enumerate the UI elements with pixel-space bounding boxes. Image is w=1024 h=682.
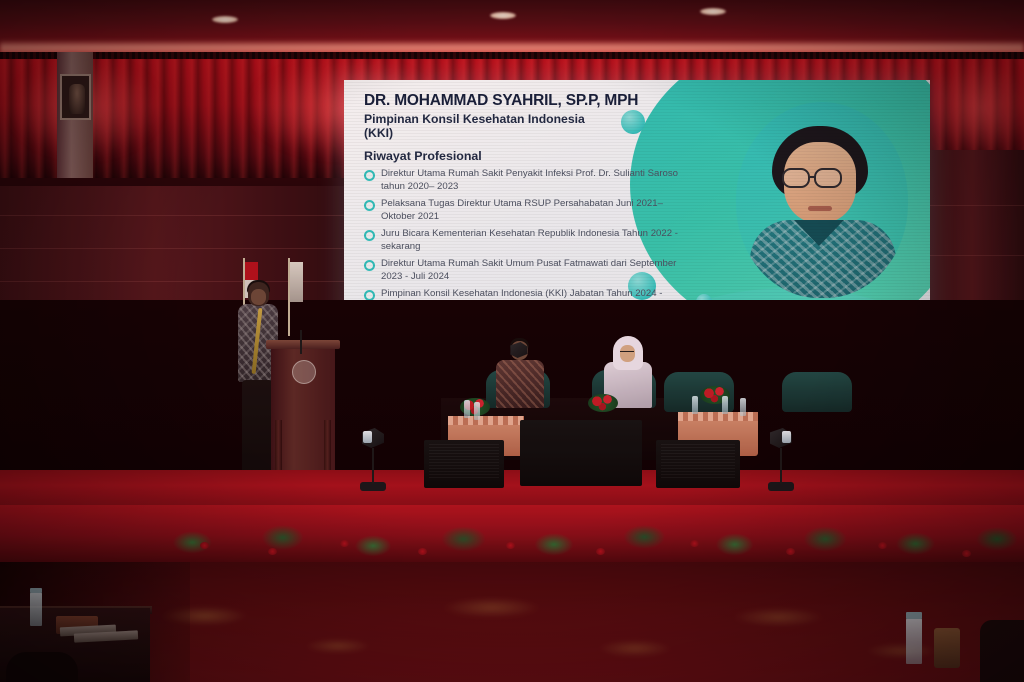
slide-subtitle-line2: (KKI) — [364, 127, 694, 141]
framed-portrait — [60, 74, 91, 120]
foreground-water-bottle — [30, 592, 42, 626]
water-bottle — [722, 396, 728, 414]
slide-section-heading: Riwayat Profesional — [364, 149, 694, 163]
ceiling-downlight — [212, 16, 238, 23]
red-flower — [878, 542, 887, 549]
portrait-glasses-bridge — [810, 176, 816, 178]
monitor-grill — [429, 444, 499, 478]
curtain-highlight — [930, 60, 1024, 156]
check-circle-icon — [364, 260, 375, 271]
par-light-post — [372, 448, 374, 484]
red-flower — [268, 548, 277, 555]
speaker-portrait-photo — [736, 102, 908, 298]
check-circle-icon — [364, 230, 375, 241]
conference-hall-photo: DR. MOHAMMAD SYAHRIL, SP.P, MPH Pimpinan… — [0, 0, 1024, 682]
list-item: Direktur Utama Rumah Sakit Umum Pusat Fa… — [364, 258, 694, 283]
portrait-glasses-left — [782, 168, 810, 188]
water-bottle — [474, 402, 480, 420]
panel-chair-empty — [782, 372, 852, 412]
red-flower — [418, 548, 427, 555]
organization-flag — [288, 258, 302, 336]
wood-panel-seam — [0, 215, 344, 216]
wall-column — [57, 52, 93, 192]
par-light-lens — [782, 431, 791, 443]
list-item-label: Direktur Utama Rumah Sakit Penyakit Infe… — [381, 168, 694, 193]
red-flower — [506, 542, 515, 549]
list-item: Juru Bicara Kementerian Kesehatan Republ… — [364, 228, 694, 253]
portrait-glasses-right — [814, 168, 842, 188]
check-circle-icon — [364, 170, 375, 181]
cloth-frill — [678, 412, 758, 421]
ceiling-downlight — [490, 12, 516, 19]
panelist-right-glasses — [620, 351, 634, 356]
podium-top — [266, 340, 340, 349]
wood-panel-seam — [0, 248, 344, 249]
portrait-figure — [69, 84, 85, 114]
list-item-label: Pelaksana Tugas Direktur Utama RSUP Pers… — [381, 198, 694, 223]
red-flower — [340, 540, 349, 547]
ceiling-downlight — [700, 8, 726, 15]
list-item-label: Juru Bicara Kementerian Kesehatan Republ… — [381, 228, 694, 253]
slide-bullet-list: Direktur Utama Rumah Sakit Penyakit Infe… — [364, 168, 694, 313]
slide-text-block: DR. MOHAMMAD SYAHRIL, SP.P, MPH Pimpinan… — [364, 92, 694, 318]
cloth-frill — [448, 416, 524, 425]
stage-monitor-speaker — [656, 440, 740, 488]
check-circle-icon — [364, 200, 375, 211]
list-item-label: Direktur Utama Rumah Sakit Umum Pusat Fa… — [381, 258, 694, 283]
microphone-stand — [300, 330, 302, 354]
slide-subtitle-line1: Pimpinan Konsil Kesehatan Indonesia — [364, 113, 694, 127]
water-bottle — [692, 396, 698, 414]
foreground-water-bottle — [906, 618, 922, 664]
slide-title: DR. MOHAMMAD SYAHRIL, SP.P, MPH — [364, 92, 694, 110]
curtain-rail — [0, 52, 1024, 59]
foreground-chair-back — [6, 652, 78, 682]
podium-emblem-icon — [292, 360, 316, 384]
wood-panel-seam — [930, 255, 1024, 256]
par-light-lens — [363, 431, 372, 443]
foreground-water-bottle — [934, 628, 960, 668]
water-bottle — [464, 400, 470, 418]
red-flower — [690, 540, 699, 547]
bottle-cap — [30, 588, 42, 593]
monitor-grill — [661, 444, 735, 478]
red-flower — [200, 542, 209, 549]
red-flower — [786, 548, 795, 555]
flag-cloth-red — [245, 262, 258, 280]
red-flower — [962, 550, 971, 557]
speaker-face — [251, 289, 266, 305]
stage-monitor-speaker — [424, 440, 504, 488]
red-flower — [596, 548, 605, 555]
flower-arrangement — [588, 394, 618, 412]
foreground-chair-back — [980, 620, 1024, 682]
list-item: Direktur Utama Rumah Sakit Penyakit Infe… — [364, 168, 694, 193]
bottle-cap — [906, 612, 922, 619]
center-stage-stand — [520, 420, 642, 486]
list-item: Pelaksana Tugas Direktur Utama RSUP Pers… — [364, 198, 694, 223]
water-bottle — [740, 398, 746, 416]
par-light-post — [780, 448, 782, 484]
portrait-mouth — [808, 206, 832, 211]
panelist-left-clothing — [496, 360, 544, 408]
wood-panel-seam — [930, 205, 1024, 206]
flag-cloth-white — [290, 262, 303, 302]
